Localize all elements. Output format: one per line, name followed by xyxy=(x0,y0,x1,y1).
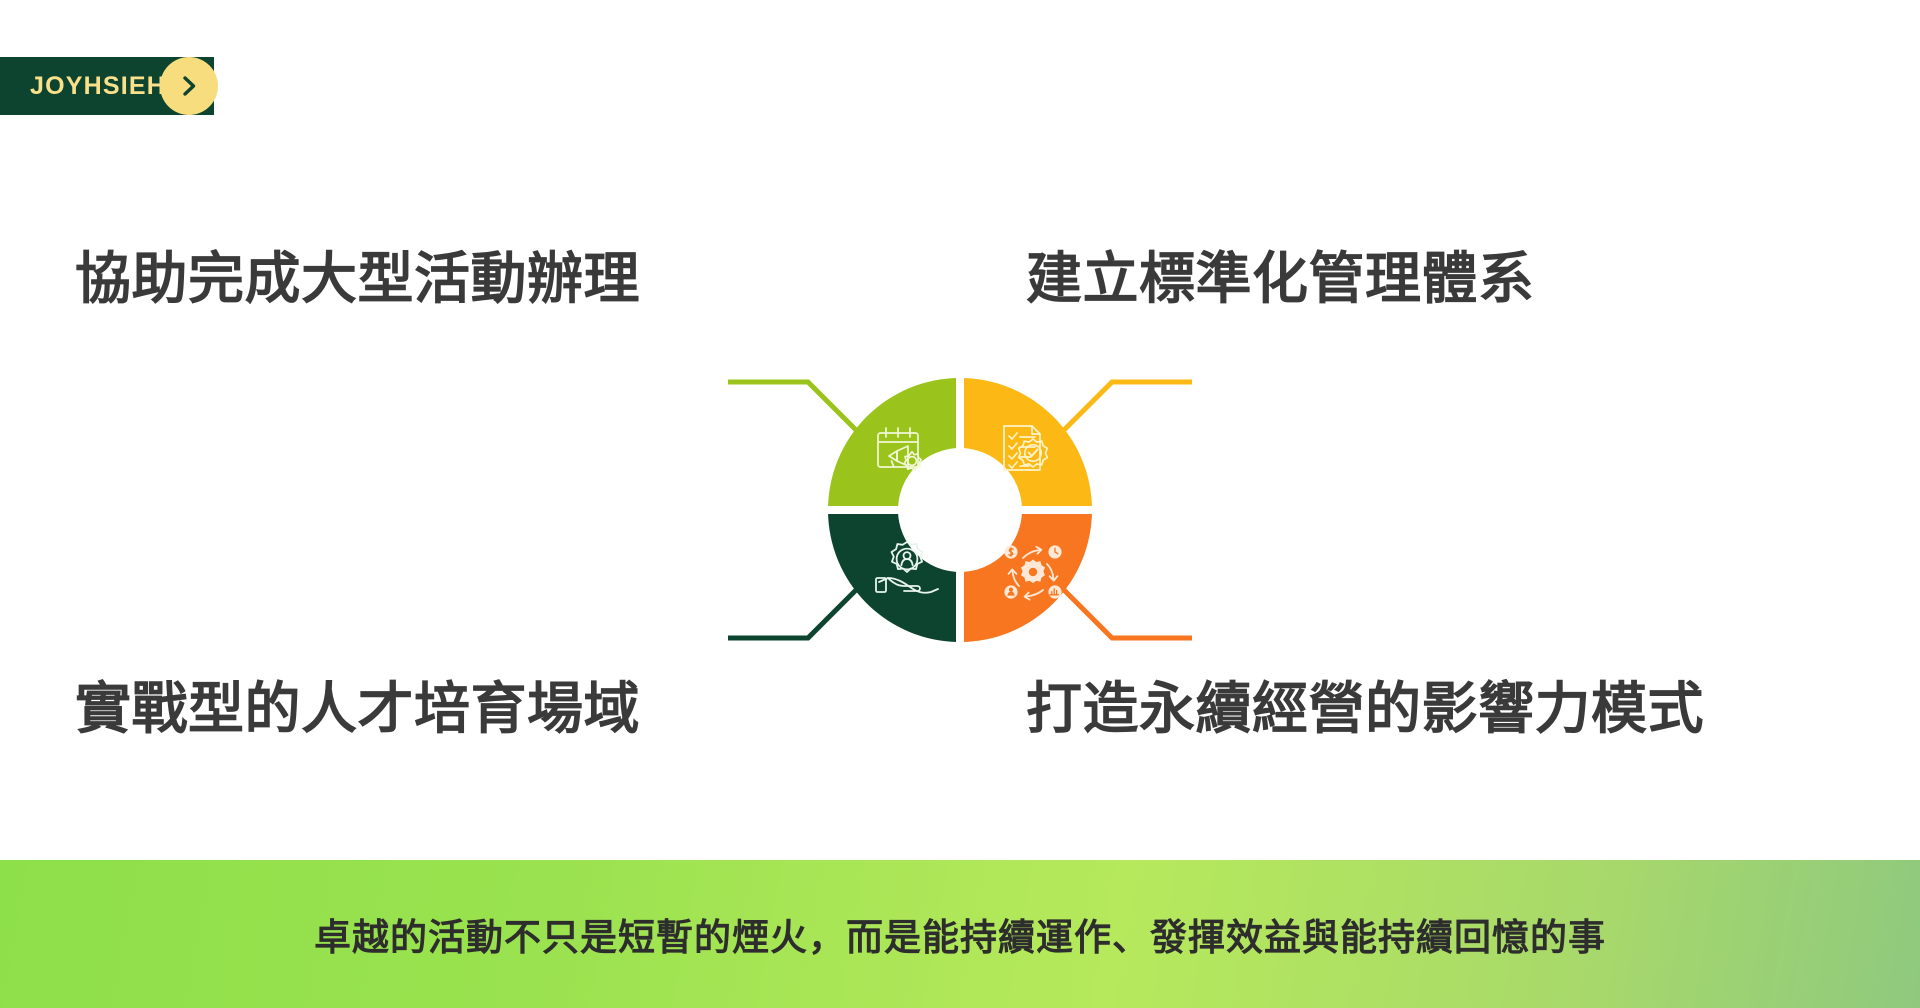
connector-line-top-right xyxy=(1062,382,1192,432)
donut-segment-top-right xyxy=(960,378,1092,510)
chevron-right-icon xyxy=(160,57,218,115)
connector-line-bottom-left xyxy=(728,588,858,638)
connector-line-top-left xyxy=(728,382,858,432)
bottom-banner: 卓越的活動不只是短暫的煙火，而是能持續運作、發揮效益與能持續回憶的事 xyxy=(0,860,1920,1008)
person-badge-icon xyxy=(1004,585,1017,598)
brand-name: JOYHSIEH xyxy=(30,74,166,99)
dollar-badge-icon xyxy=(1004,545,1017,558)
connector-line-bottom-right xyxy=(1062,588,1192,638)
donut-segment-bottom-left xyxy=(828,510,960,642)
quadrant-label-top-left: 協助完成大型活動辦理 xyxy=(75,248,640,310)
donut-quadrant-diagram xyxy=(690,320,1230,700)
quadrant-label-bottom-left: 實戰型的人才培育場域 xyxy=(75,678,640,740)
clock-badge-icon xyxy=(1048,545,1061,558)
bar-chart-badge-icon xyxy=(1048,585,1061,598)
connector-lines xyxy=(728,382,1192,638)
donut-segment-top-left xyxy=(828,378,960,510)
donut-segments xyxy=(828,378,1092,642)
quadrant-label-top-right: 建立標準化管理體系 xyxy=(1026,248,1535,310)
banner-text: 卓越的活動不只是短暫的煙火，而是能持續運作、發揮效益與能持續回憶的事 xyxy=(314,907,1606,961)
brand-badge: JOYHSIEH xyxy=(0,57,214,115)
